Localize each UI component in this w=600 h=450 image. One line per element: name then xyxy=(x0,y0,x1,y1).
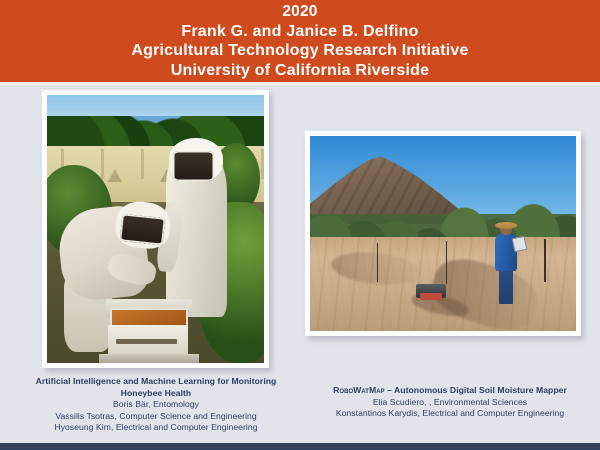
robowatmap-photo xyxy=(310,136,576,331)
header-program-name: Agricultural Technology Research Initiat… xyxy=(0,41,600,61)
header-donor-name: Frank G. and Janice B. Delfino xyxy=(0,22,600,42)
header-university-name: University of California Riverside xyxy=(0,61,600,81)
honeybee-photo-frame xyxy=(42,90,269,368)
fence-post-left xyxy=(377,243,379,282)
honeybee-photo xyxy=(47,95,264,363)
honeybee-author-3: Hyoseung Kim, Electrical and Computer En… xyxy=(10,422,302,434)
beehive-stand xyxy=(99,354,199,363)
header-divider xyxy=(0,82,600,85)
robowatmap-author-2: Konstantinos Karydis, Electrical and Com… xyxy=(305,408,595,420)
fence-post-mid xyxy=(446,241,448,284)
honeybee-title-line2: Honeybee Health xyxy=(10,388,302,400)
beekeeper-standing-veil xyxy=(173,151,214,180)
beekeeper-bending-veil xyxy=(119,213,165,244)
fence-post-right xyxy=(544,239,546,282)
honeybee-author-1: Boris Bär, Entomology xyxy=(10,399,302,411)
honeybee-author-2: Vassilis Tsotras, Computer Science and E… xyxy=(10,411,302,423)
beehive-entrance xyxy=(116,339,177,344)
robowatmap-title-rest: – Autonomous Digital Soil Moisture Mappe… xyxy=(385,385,567,395)
robowatmap-caption: RoboWatMap – Autonomous Digital Soil Moi… xyxy=(305,385,595,420)
robowatmap-photo-frame xyxy=(305,131,581,336)
bottom-bar xyxy=(0,443,600,450)
honeybee-caption: Artificial Intelligence and Machine Lear… xyxy=(10,376,302,434)
researcher-hat xyxy=(495,222,518,229)
beehive-inner-cover xyxy=(110,308,188,327)
robowatmap-author-1: Elia Scudiero, , Environmental Sciences xyxy=(305,397,595,409)
ground-robot xyxy=(416,284,445,298)
robowatmap-title-prefix: RoboWatMap xyxy=(333,385,385,395)
header-banner: 2020 Frank G. and Janice B. Delfino Agri… xyxy=(0,0,600,82)
header-year: 2020 xyxy=(0,2,600,22)
honeybee-title-line1: Artificial Intelligence and Machine Lear… xyxy=(10,376,302,388)
robowatmap-title: RoboWatMap – Autonomous Digital Soil Moi… xyxy=(305,385,595,397)
